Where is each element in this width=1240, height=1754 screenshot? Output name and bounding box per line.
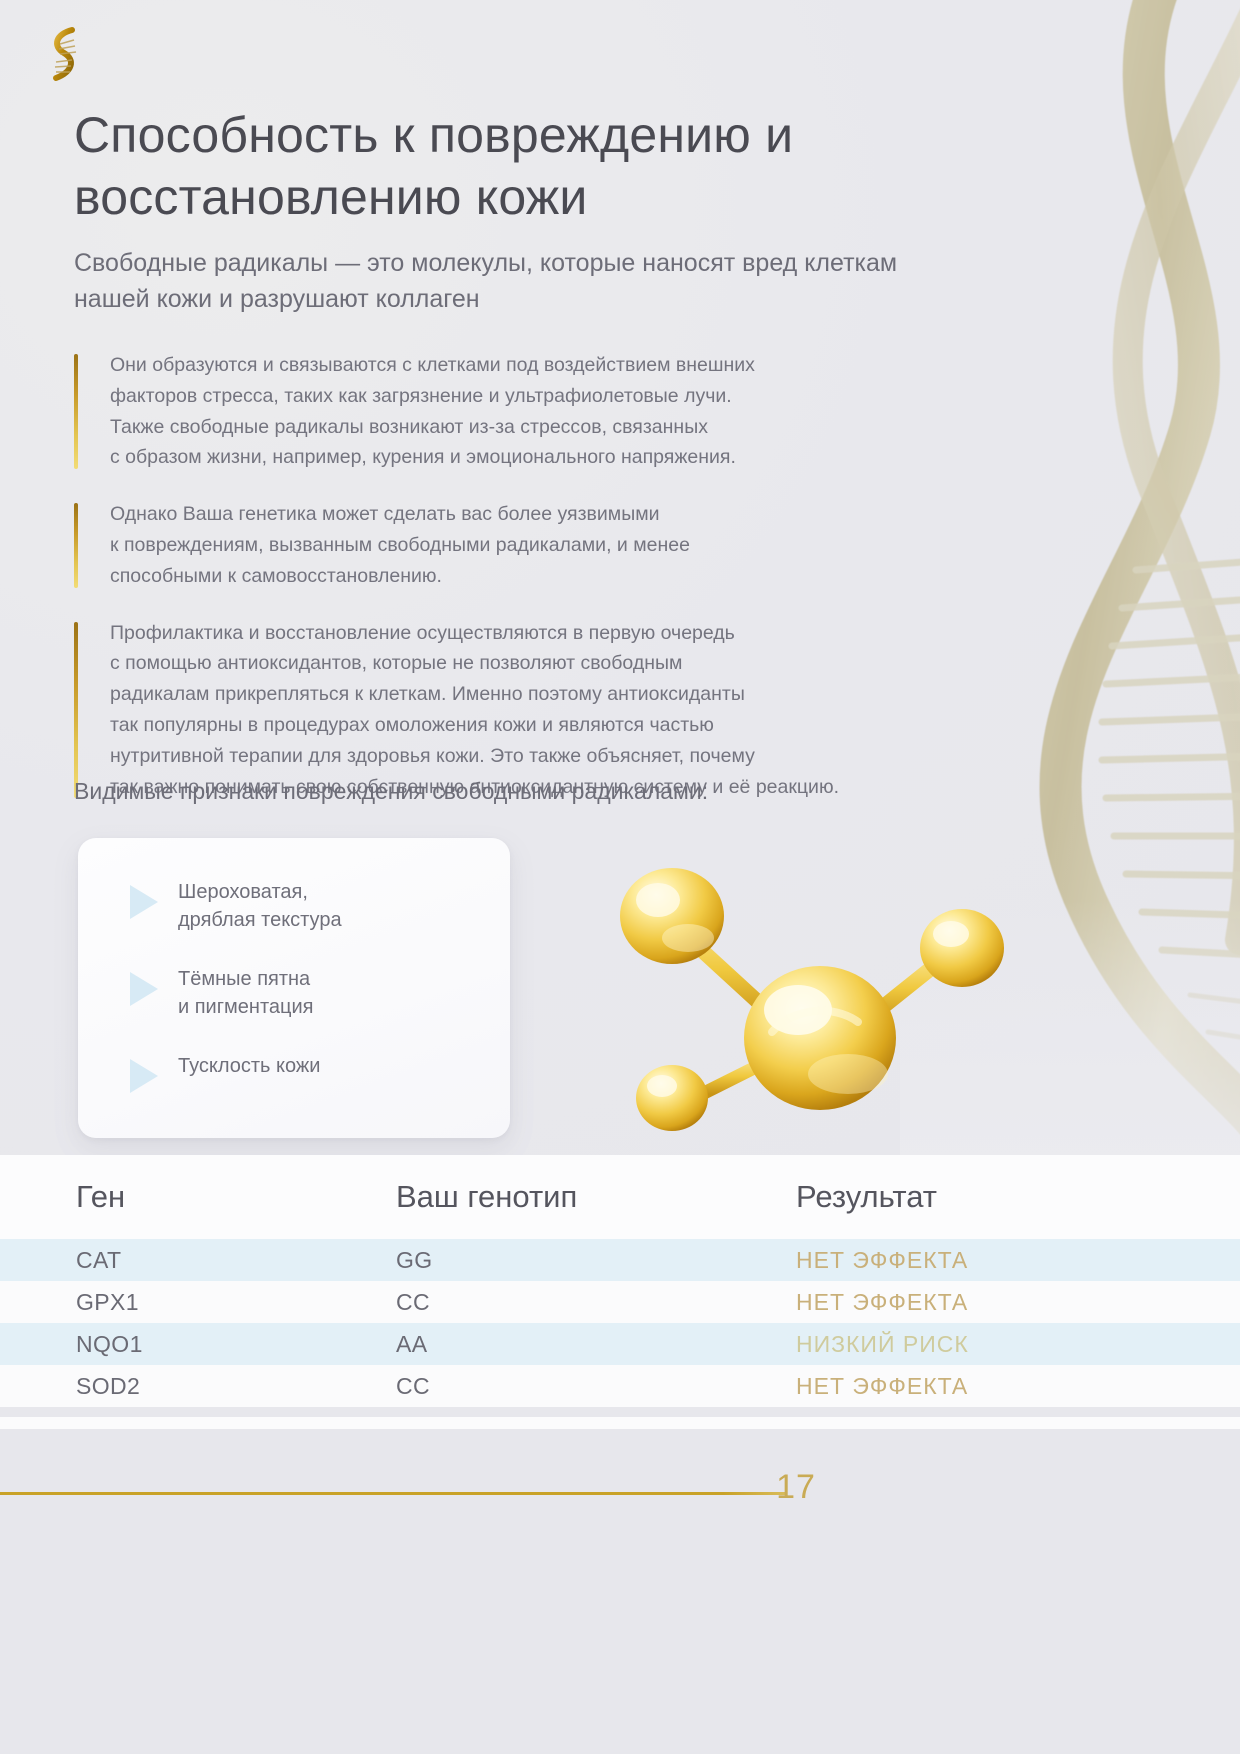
cell-gene: CAT [0,1239,320,1281]
sign-label: Тёмные пятна и пигментация [178,963,313,1022]
cell-gene: GPX1 [0,1281,320,1323]
table-row: NQO1 AA НИЗКИЙ РИСК [0,1323,1240,1365]
page-number: 17 [736,1468,856,1507]
results-table-block: Ген Ваш генотип Результат CAT GG НЕТ ЭФФ… [0,1155,1240,1407]
page-title: Способность к повреждению и восстановлен… [74,104,954,228]
column-header-result: Результат [720,1155,1240,1239]
column-header-genotype: Ваш генотип [320,1155,720,1239]
note-text: Однако Ваша генетика может сделать вас б… [110,499,954,591]
note-block: Они образуются и связываются с клетками … [74,350,954,473]
note-accent-bar [74,503,78,587]
note-accent-bar [74,622,78,799]
table-header-row: Ген Ваш генотип Результат [0,1155,1240,1239]
gold-molecule-illustration [562,826,1022,1156]
sign-label: Шероховатая, дряблая текстура [178,876,342,935]
report-page: Способность к повреждению и восстановлен… [0,0,1240,1754]
cell-genotype: CC [320,1281,720,1323]
cell-genotype: AA [320,1323,720,1365]
triangle-arrow-icon [130,1059,158,1093]
note-text: Они образуются и связываются с клетками … [110,350,954,473]
dna-helix-background-image [940,0,1240,1180]
note-blocks: Они образуются и связываются с клетками … [74,350,954,802]
footer-rule [0,1492,786,1495]
cell-genotype: GG [320,1239,720,1281]
cell-result: НЕТ ЭФФЕКТА [720,1365,1240,1407]
column-header-gene: Ген [0,1155,320,1239]
note-text: Профилактика и восстановление осуществля… [110,618,954,803]
list-item: Шероховатая, дряблая текстура [108,876,480,935]
cell-gene: NQO1 [0,1323,320,1365]
table-row: SOD2 CC НЕТ ЭФФЕКТА [0,1365,1240,1407]
triangle-arrow-icon [130,885,158,919]
page-subtitle: Свободные радикалы — это молекулы, котор… [74,246,954,317]
results-table: Ген Ваш генотип Результат CAT GG НЕТ ЭФФ… [0,1155,1240,1407]
cell-result: НЕТ ЭФФЕКТА [720,1239,1240,1281]
visible-signs-card: Шероховатая, дряблая текстура Тёмные пят… [78,838,510,1138]
cell-gene: SOD2 [0,1365,320,1407]
dna-helix-logo-icon [38,22,92,90]
list-item: Тёмные пятна и пигментация [108,963,480,1022]
signs-heading: Видимые признаки повреждения свободными … [74,778,708,805]
note-block: Профилактика и восстановление осуществля… [74,618,954,803]
triangle-arrow-icon [130,972,158,1006]
list-item: Тусклость кожи [108,1050,480,1093]
table-bottom-padding [0,1417,1240,1429]
table-row: GPX1 CC НЕТ ЭФФЕКТА [0,1281,1240,1323]
table-row: CAT GG НЕТ ЭФФЕКТА [0,1239,1240,1281]
note-accent-bar [74,354,78,469]
sign-label: Тусклость кожи [178,1050,320,1080]
cell-result: НЕТ ЭФФЕКТА [720,1281,1240,1323]
cell-genotype: CC [320,1365,720,1407]
note-block: Однако Ваша генетика может сделать вас б… [74,499,954,591]
cell-result: НИЗКИЙ РИСК [720,1323,1240,1365]
